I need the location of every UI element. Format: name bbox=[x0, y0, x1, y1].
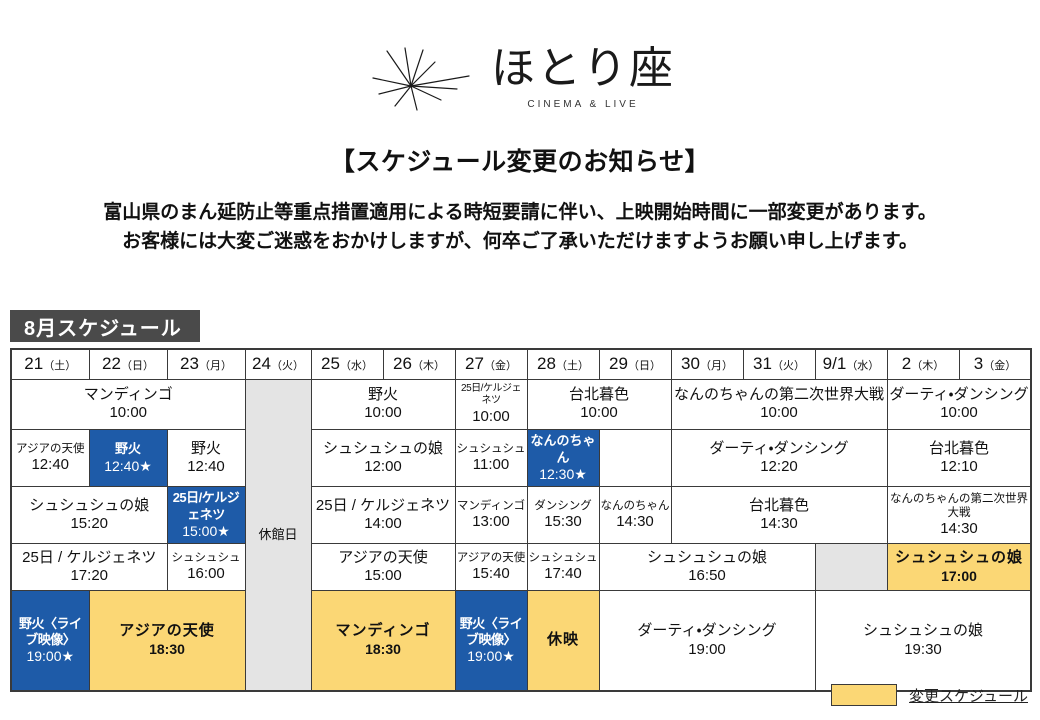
schedule-table-wrap: 21（土） 22（日） 23（月） 24（火） 25（水） 26（木） 27（金… bbox=[10, 348, 1030, 692]
day-header-31: 31（火） bbox=[743, 349, 815, 379]
showing-cell[interactable]: 台北暮色 14:30 bbox=[671, 487, 887, 544]
legend-label-changed: 変更スケジュール bbox=[909, 685, 1028, 706]
special-event-cell[interactable]: 野火〈ライブ映像〉 19:00★ bbox=[11, 591, 89, 691]
showing-cell[interactable]: ダーティ・ダンシング 12:20 bbox=[671, 430, 887, 487]
schedule-row-1: マンディンゴ 10:00 休館日 野火 10:00 25日/ケルジェネツ 10:… bbox=[11, 379, 1031, 430]
schedule-row-5: 野火〈ライブ映像〉 19:00★ アジアの天使 18:30 マンディンゴ 18:… bbox=[11, 591, 1031, 691]
schedule-row-4: 25日 / ケルジェネツ 17:20 シュシュシュ 16:00 アジアの天使 1… bbox=[11, 544, 1031, 591]
showing-cell[interactable]: 野火 12:40 bbox=[167, 430, 245, 487]
showing-cell[interactable]: マンディンゴ 13:00 bbox=[455, 487, 527, 544]
day-header-22: 22（日） bbox=[89, 349, 167, 379]
day-header-29: 29（日） bbox=[599, 349, 671, 379]
special-event-cell[interactable]: 野火 12:40★ bbox=[89, 430, 167, 487]
day-header-24: 24（火） bbox=[245, 349, 311, 379]
special-event-cell[interactable]: なんのちゃん 12:30★ bbox=[527, 430, 599, 487]
page-title: 【スケジュール変更のお知らせ】 bbox=[0, 142, 1040, 178]
showing-cell[interactable]: アジアの天使 15:00 bbox=[311, 544, 455, 591]
legend: 変更スケジュール bbox=[831, 684, 1028, 706]
starburst-icon bbox=[365, 42, 473, 114]
showing-cell[interactable]: マンディンゴ 10:00 bbox=[11, 379, 245, 430]
notice-text: 富山県のまん延防止等重点措置適用による時短要請に伴い、上映開始時間に一部変更があ… bbox=[0, 198, 1040, 257]
legend-swatch-changed bbox=[831, 684, 897, 706]
changed-showing-cell[interactable]: 休映 bbox=[527, 591, 599, 691]
showing-cell[interactable]: アジアの天使 12:40 bbox=[11, 430, 89, 487]
day-header-03: 3（金） bbox=[959, 349, 1031, 379]
showing-cell[interactable]: シュシュシュ 11:00 bbox=[455, 430, 527, 487]
schedule-table: 21（土） 22（日） 23（月） 24（火） 25（水） 26（木） 27（金… bbox=[10, 348, 1032, 692]
showing-cell[interactable]: アジアの天使 15:40 bbox=[455, 544, 527, 591]
changed-showing-cell[interactable]: マンディンゴ 18:30 bbox=[311, 591, 455, 691]
notice-line-2: お客様には大変ご迷惑をおかけしますが、何卒ご了承いただけますようお願い申し上げま… bbox=[0, 227, 1040, 256]
showing-cell[interactable]: 25日/ケルジェネツ 10:00 bbox=[455, 379, 527, 430]
showing-cell[interactable]: シュシュシュの娘 19:30 bbox=[815, 591, 1031, 691]
logo-subtitle: CINEMA & LIVE bbox=[527, 99, 638, 110]
special-event-cell[interactable]: 野火〈ライブ映像〉 19:00★ bbox=[455, 591, 527, 691]
day-header-21: 21（土） bbox=[11, 349, 89, 379]
showing-cell[interactable]: ダーティ・ダンシング 19:00 bbox=[599, 591, 815, 691]
empty-cell bbox=[815, 544, 887, 591]
notice-line-1: 富山県のまん延防止等重点措置適用による時短要請に伴い、上映開始時間に一部変更があ… bbox=[0, 198, 1040, 227]
showing-cell[interactable]: 25日 / ケルジェネツ 17:20 bbox=[11, 544, 167, 591]
showing-cell[interactable]: 台北暮色 12:10 bbox=[887, 430, 1031, 487]
showing-cell[interactable]: 25日 / ケルジェネツ 14:00 bbox=[311, 487, 455, 544]
day-header-30: 30（月） bbox=[671, 349, 743, 379]
schedule-row-3: シュシュシュの娘 15:20 25日/ケルジェネツ 15:00★ 25日 / ケ… bbox=[11, 487, 1031, 544]
day-header-0901: 9/1（水） bbox=[815, 349, 887, 379]
showing-cell[interactable]: なんのちゃん 14:30 bbox=[599, 487, 671, 544]
cinema-logo: ほとり座 CINEMA & LIVE bbox=[0, 0, 1040, 114]
day-header-23: 23（月） bbox=[167, 349, 245, 379]
schedule-notice-page: ほとり座 CINEMA & LIVE 【スケジュール変更のお知らせ】 富山県のま… bbox=[0, 0, 1040, 720]
showing-cell[interactable]: 台北暮色 10:00 bbox=[527, 379, 671, 430]
schedule-header-row: 21（土） 22（日） 23（月） 24（火） 25（水） 26（木） 27（金… bbox=[11, 349, 1031, 379]
showing-cell[interactable]: シュシュシュ 17:40 bbox=[527, 544, 599, 591]
day-header-02: 2（木） bbox=[887, 349, 959, 379]
showing-cell[interactable]: シュシュシュ 16:00 bbox=[167, 544, 245, 591]
showing-cell[interactable]: なんのちゃんの第二次世界大戦 14:30 bbox=[887, 487, 1031, 544]
schedule-row-2: アジアの天使 12:40 野火 12:40★ 野火 12:40 シュシュシュの娘… bbox=[11, 430, 1031, 487]
logo-name: ほとり座 bbox=[491, 46, 675, 92]
special-event-cell[interactable]: 25日/ケルジェネツ 15:00★ bbox=[167, 487, 245, 544]
day-header-28: 28（土） bbox=[527, 349, 599, 379]
closed-day-cell: 休館日 bbox=[245, 379, 311, 691]
changed-showing-cell[interactable]: シュシュシュの娘 17:00 bbox=[887, 544, 1031, 591]
showing-cell[interactable]: シュシュシュの娘 15:20 bbox=[11, 487, 167, 544]
showing-cell[interactable]: シュシュシュの娘 16:50 bbox=[599, 544, 815, 591]
showing-cell[interactable]: なんのちゃんの第二次世界大戦 10:00 bbox=[671, 379, 887, 430]
showing-cell[interactable]: シュシュシュの娘 12:00 bbox=[311, 430, 455, 487]
day-header-25: 25（水） bbox=[311, 349, 383, 379]
month-tab: 8月スケジュール bbox=[10, 310, 200, 342]
changed-showing-cell[interactable]: アジアの天使 18:30 bbox=[89, 591, 245, 691]
showing-cell[interactable]: 野火 10:00 bbox=[311, 379, 455, 430]
empty-cell bbox=[599, 430, 671, 487]
day-header-26: 26（木） bbox=[383, 349, 455, 379]
day-header-27: 27（金） bbox=[455, 349, 527, 379]
showing-cell[interactable]: ダーティ・ダンシング 10:00 bbox=[887, 379, 1031, 430]
showing-cell[interactable]: ダンシング 15:30 bbox=[527, 487, 599, 544]
